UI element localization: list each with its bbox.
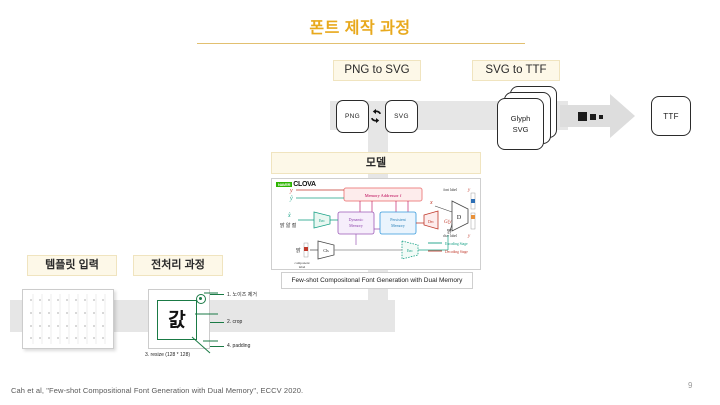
- glyph-svg-card-front: Glyph SVG: [497, 98, 544, 150]
- svg-text:x̂: x̂: [287, 213, 291, 219]
- leader-line-step1: [210, 294, 224, 295]
- svg-text:y: y: [289, 188, 293, 194]
- paper-figure-caption: Few-shot Compositonal Font Generation wi…: [281, 272, 473, 289]
- svg-text:Dec: Dec: [428, 220, 434, 224]
- svg-text:Cls: Cls: [323, 248, 329, 253]
- svg-text:ŷ: ŷ: [289, 196, 293, 202]
- svg-text:밝 앎 젊: 밝 앎 젊: [280, 222, 296, 229]
- svg-text:Memory Addressor f: Memory Addressor f: [365, 193, 402, 198]
- paper-figure-clova: NAVERCLOVA Memory Addressor f y ŷ x̂ 밝 앎…: [271, 178, 481, 270]
- svg-text:밝: 밝: [296, 247, 301, 254]
- svg-text:x: x: [429, 200, 433, 206]
- svg-text:Memory: Memory: [391, 223, 405, 228]
- svg-format-box: SVG: [385, 100, 418, 133]
- svg-text:Decoding Stage: Decoding Stage: [445, 250, 468, 254]
- svg-text:y: y: [467, 188, 471, 193]
- sync-icon: [368, 108, 384, 124]
- section-label-model: 모델: [271, 152, 481, 174]
- svg-text:Dynamic: Dynamic: [349, 217, 364, 222]
- svg-text:Memory: Memory: [349, 223, 363, 228]
- svg-text:D: D: [457, 215, 462, 221]
- section-label-template-input: 템플릿 입력: [27, 255, 117, 276]
- page-number: 9: [688, 381, 692, 390]
- svg-text:Enc: Enc: [407, 249, 413, 253]
- flow-arrow-head: [610, 94, 635, 138]
- leader-line-step2: [210, 322, 224, 323]
- flow-arrow-shaft: [560, 105, 615, 127]
- svg-text:Persistent: Persistent: [390, 217, 406, 222]
- svg-text:y: y: [467, 234, 471, 239]
- preprocess-step-3-label: 3. resize (128 * 128): [145, 352, 190, 358]
- preprocess-step-4-label: 4. padding: [227, 343, 250, 349]
- svg-text:Encoding Stage: Encoding Stage: [445, 242, 468, 246]
- page-title: 폰트 제작 과정: [0, 14, 720, 38]
- section-label-preprocess: 전처리 과정: [133, 255, 223, 276]
- template-grid: [23, 290, 113, 348]
- preprocess-step-1-label: 1. 노이즈 제거: [227, 291, 257, 298]
- leader-line-step4: [210, 346, 224, 347]
- glyph-card-line1: Glyph: [511, 113, 531, 124]
- citation-footer: Cah et al, "Few-shot Compositional Font …: [11, 386, 303, 395]
- png-format-box: PNG: [336, 100, 369, 133]
- arrow-square-medium-icon: [590, 114, 596, 120]
- slide-canvas: 폰트 제작 과정 PNG to SVG SVG to TTF 모델 템플릿 입력…: [0, 0, 720, 405]
- arrow-square-small-icon: [599, 115, 603, 119]
- title-divider: [197, 43, 525, 44]
- svg-text:Enc: Enc: [319, 219, 325, 223]
- preprocess-step-2-label: 2. crop: [227, 319, 242, 325]
- section-label-png-to-svg: PNG to SVG: [333, 60, 421, 81]
- svg-text:font label: font label: [443, 188, 457, 192]
- template-sheet-image: [22, 289, 114, 349]
- arrow-square-large-icon: [578, 112, 587, 121]
- ttf-format-box: TTF: [651, 96, 691, 136]
- dual-memory-architecture-diagram: Memory Addressor f y ŷ x̂ 밝 앎 젊 Enc Dyna…: [272, 179, 480, 269]
- svg-text:char label: char label: [443, 234, 457, 238]
- glyph-card-line2: SVG: [513, 124, 529, 135]
- section-label-svg-to-ttf: SVG to TTF: [472, 60, 560, 81]
- svg-text:label: label: [299, 265, 306, 269]
